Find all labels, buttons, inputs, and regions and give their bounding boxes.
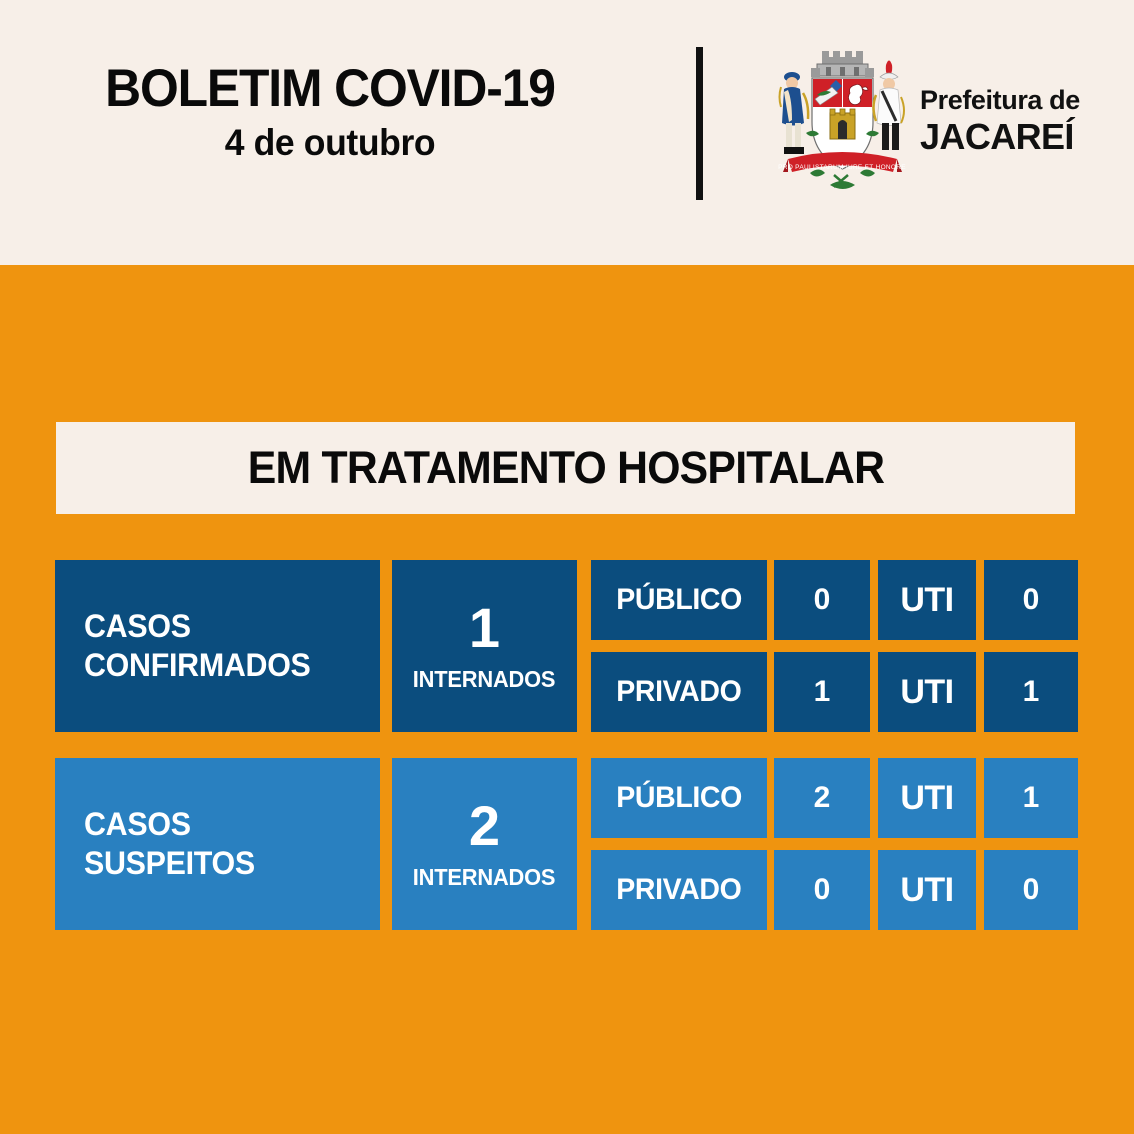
uti-label: UTI bbox=[900, 871, 953, 910]
uti-count-value: 0 bbox=[1023, 583, 1040, 617]
facility-type-privado-confirmed: PRIVADO bbox=[591, 652, 767, 732]
facility-count-value: 0 bbox=[814, 873, 831, 907]
page-header: BOLETIM COVID-19 4 de outubro bbox=[0, 0, 1134, 265]
uti-label-publico-confirmed: UTI bbox=[878, 560, 976, 640]
bulletin-date: 4 de outubro bbox=[13, 124, 647, 161]
facility-type-label: PRIVADO bbox=[616, 675, 741, 709]
brand-block: PRO PAULISTARUM IURE ET HONORE Prefeitur… bbox=[770, 47, 1090, 202]
uti-count-publico-suspected: 1 bbox=[984, 758, 1078, 838]
hospital-treatment-table: CASOS CONFIRMADOS 1 INTERNADOS PÚBLICO 0… bbox=[55, 560, 1078, 934]
facility-count-publico-confirmed: 0 bbox=[774, 560, 870, 640]
crest-motto-text: PRO PAULISTARUM IURE ET HONORE bbox=[778, 164, 906, 171]
uti-count-privado-suspected: 0 bbox=[984, 850, 1078, 930]
uti-count-value: 0 bbox=[1023, 873, 1040, 907]
row-label-line2: SUSPEITOS bbox=[84, 844, 255, 883]
uti-count-value: 1 bbox=[1023, 781, 1040, 815]
row-label-line1: CASOS bbox=[84, 607, 311, 646]
facility-type-privado-suspected: PRIVADO bbox=[591, 850, 767, 930]
table-row-confirmed: CASOS CONFIRMADOS 1 INTERNADOS PÚBLICO 0… bbox=[55, 560, 1078, 732]
bulletin-page: BOLETIM COVID-19 4 de outubro bbox=[0, 0, 1134, 1134]
uti-count-value: 1 bbox=[1023, 675, 1040, 709]
uti-count-privado-confirmed: 1 bbox=[984, 652, 1078, 732]
brand-prefeitura-label: Prefeitura de bbox=[920, 87, 1095, 114]
jacarei-coat-of-arms-icon: PRO PAULISTARUM IURE ET HONORE bbox=[770, 47, 915, 199]
facility-count-publico-suspected: 2 bbox=[774, 758, 870, 838]
facility-type-label: PÚBLICO bbox=[616, 781, 742, 815]
internados-count: 2 bbox=[469, 798, 500, 854]
table-row-suspected: CASOS SUSPEITOS 2 INTERNADOS PÚBLICO 2 U… bbox=[55, 758, 1078, 930]
uti-label: UTI bbox=[900, 581, 953, 620]
facility-type-label: PRIVADO bbox=[616, 873, 741, 907]
uti-label-publico-suspected: UTI bbox=[878, 758, 976, 838]
section-banner: EM TRATAMENTO HOSPITALAR bbox=[56, 422, 1075, 514]
internados-cell-suspected: 2 INTERNADOS bbox=[392, 758, 577, 930]
facility-count-privado-suspected: 0 bbox=[774, 850, 870, 930]
page-title: BOLETIM COVID-19 bbox=[20, 62, 640, 115]
uti-label-privado-confirmed: UTI bbox=[878, 652, 976, 732]
uti-label-privado-suspected: UTI bbox=[878, 850, 976, 930]
row-label-suspected: CASOS SUSPEITOS bbox=[55, 758, 380, 930]
facility-type-publico-suspected: PÚBLICO bbox=[591, 758, 767, 838]
brand-city-name: JACAREÍ bbox=[920, 119, 1095, 155]
facility-type-label: PÚBLICO bbox=[616, 583, 742, 617]
internados-label: INTERNADOS bbox=[413, 864, 556, 891]
facility-type-publico-confirmed: PÚBLICO bbox=[591, 560, 767, 640]
uti-label: UTI bbox=[900, 779, 953, 818]
header-divider bbox=[696, 47, 703, 200]
facility-count-value: 0 bbox=[814, 583, 831, 617]
row-label-line1: CASOS bbox=[84, 805, 255, 844]
facility-count-value: 2 bbox=[814, 781, 831, 815]
brand-text: Prefeitura de JACAREÍ bbox=[920, 87, 1095, 155]
facility-count-value: 1 bbox=[814, 675, 831, 709]
section-title: EM TRATAMENTO HOSPITALAR bbox=[247, 442, 883, 494]
internados-label: INTERNADOS bbox=[413, 666, 556, 693]
row-label-line2: CONFIRMADOS bbox=[84, 646, 311, 685]
uti-count-publico-confirmed: 0 bbox=[984, 560, 1078, 640]
internados-cell-confirmed: 1 INTERNADOS bbox=[392, 560, 577, 732]
header-title-block: BOLETIM COVID-19 4 de outubro bbox=[0, 62, 660, 161]
row-label-confirmed: CASOS CONFIRMADOS bbox=[55, 560, 380, 732]
uti-label: UTI bbox=[900, 673, 953, 712]
internados-count: 1 bbox=[469, 600, 500, 656]
facility-count-privado-confirmed: 1 bbox=[774, 652, 870, 732]
